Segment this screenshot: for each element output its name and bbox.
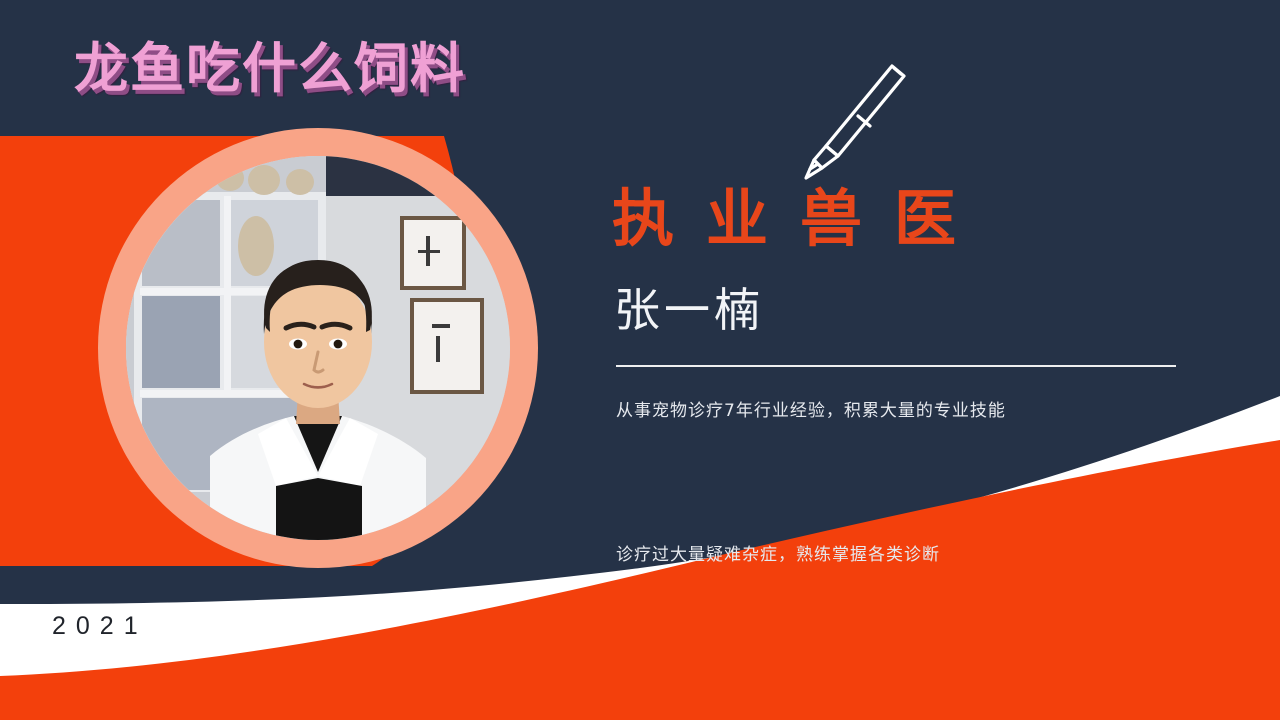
headline-credential: 执业兽医 (612, 168, 988, 258)
fountain-pen-icon (770, 28, 930, 188)
bio-line-secondary: 诊疗过大量疑难杂症，熟练掌握各类诊断 (616, 540, 940, 565)
slide-canvas: 龙鱼吃什么饲料 执业兽医 张一楠 从事宠物诊疗7年行业经验，积累大量的专业技能 … (0, 0, 1280, 720)
portrait-photo (126, 156, 510, 540)
divider-line (616, 365, 1176, 367)
bio-line-primary: 从事宠物诊疗7年行业经验，积累大量的专业技能 (616, 396, 1006, 421)
page-title: 龙鱼吃什么饲料 (74, 24, 466, 103)
avatar (126, 156, 510, 540)
person-name: 张一楠 (614, 274, 764, 340)
year-label: 2021 (52, 612, 148, 641)
portrait-frame (98, 128, 538, 568)
